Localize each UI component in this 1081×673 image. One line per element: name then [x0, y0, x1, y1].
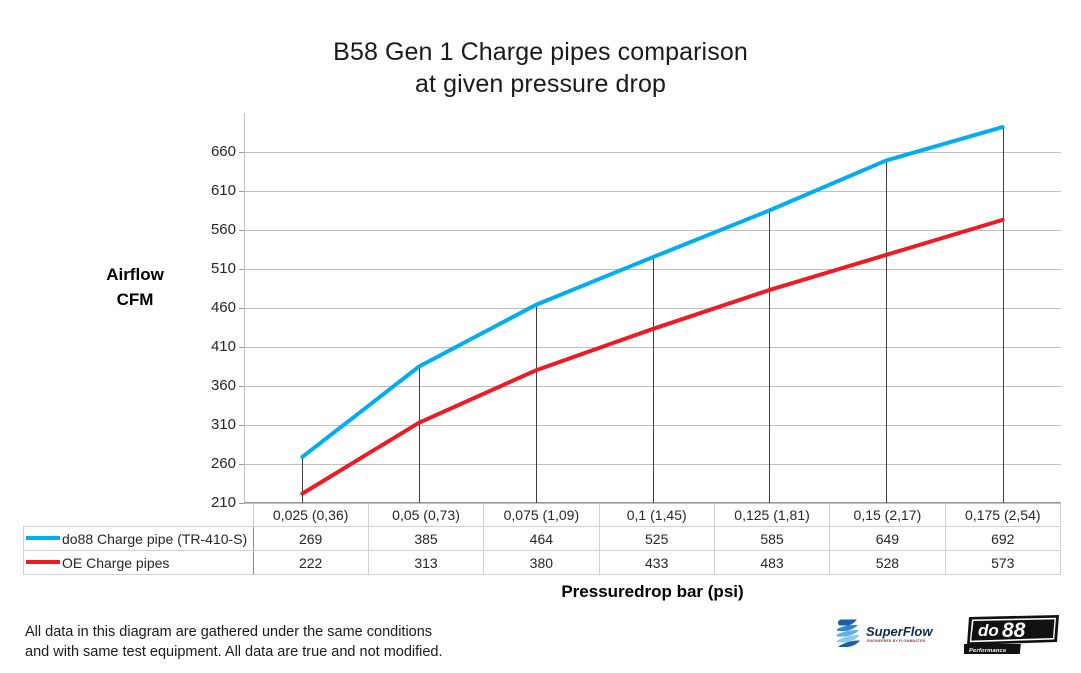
page-title: B58 Gen 1 Charge pipes comparison at giv…: [0, 36, 1081, 100]
series-line: [302, 220, 1002, 494]
x-axis-category-label: 0,025 (0,36): [253, 503, 368, 527]
series-line: [302, 127, 1002, 457]
x-axis-category-label: 0,075 (1,09): [484, 503, 599, 527]
legend-entry[interactable]: OE Charge pipes: [24, 551, 254, 575]
legend-color-swatch: [26, 536, 60, 540]
legend-label: do88 Charge pipe (TR-410-S): [62, 531, 247, 547]
table-cell-value: 380: [484, 551, 599, 575]
page-title-line1: B58 Gen 1 Charge pipes comparison: [333, 38, 748, 66]
y-axis-tick-label: 560: [190, 221, 236, 238]
table-cell-value: 649: [830, 527, 945, 551]
table-row: OE Charge pipes222313380433483528573: [24, 551, 1061, 575]
table-row: do88 Charge pipe (TR-410-S)2693854645255…: [24, 527, 1061, 551]
x-axis-category-label: 0,175 (2,54): [945, 503, 1060, 527]
table-cell-value: 385: [368, 527, 483, 551]
superflow-logo: SuperFlow ENGINEERED BY FLOWMASTER: [836, 618, 939, 650]
y-axis-tick-label: 510: [190, 260, 236, 277]
table-cell-value: 464: [484, 527, 599, 551]
legend-label: OE Charge pipes: [62, 555, 169, 571]
do88-wordmark: do: [978, 621, 999, 640]
y-axis-tick-label: 460: [190, 299, 236, 316]
table-cell-value: 483: [714, 551, 829, 575]
table-cell-value: 313: [368, 551, 483, 575]
data-table: 0,025 (0,36)0,05 (0,73)0,075 (1,09)0,1 (…: [23, 503, 1061, 575]
legend-color-swatch: [26, 560, 60, 564]
chart-plot-area: [244, 113, 1061, 503]
table-cell-value: 269: [253, 527, 368, 551]
y-axis-tick-label: 660: [190, 143, 236, 160]
do88-logo: do 88 Performance: [964, 614, 1061, 656]
x-axis-category-label: 0,1 (1,45): [599, 503, 714, 527]
y-axis-tick-label: 310: [190, 416, 236, 433]
table-cell-value: 528: [830, 551, 945, 575]
page-title-line2: at given pressure drop: [0, 68, 1081, 100]
x-axis-category-label: 0,15 (2,17): [830, 503, 945, 527]
table-cell-value: 525: [599, 527, 714, 551]
table-cell-value: 585: [714, 527, 829, 551]
x-axis-category-label: 0,05 (0,73): [368, 503, 483, 527]
footnote-line1: All data in this diagram are gathered un…: [25, 622, 443, 642]
x-axis-title: Pressuredrop bar (psi): [244, 582, 1061, 602]
y-axis-tick-label: 610: [190, 182, 236, 199]
logo-group: SuperFlow ENGINEERED BY FLOWMASTER do 88…: [836, 614, 1061, 660]
y-axis-tick-label: 260: [190, 455, 236, 472]
table-cell-value: 433: [599, 551, 714, 575]
table-cell-value: 692: [945, 527, 1060, 551]
superflow-wordmark: SuperFlow: [866, 624, 933, 639]
table-corner-cell: [24, 503, 254, 527]
series-lines: [244, 113, 1061, 503]
table-row-categories: 0,025 (0,36)0,05 (0,73)0,075 (1,09)0,1 (…: [24, 503, 1061, 527]
superflow-tagline: ENGINEERED BY FLOWMASTER: [867, 639, 926, 643]
footnote-line2: and with same test equipment. All data a…: [25, 642, 443, 662]
y-axis-tick-label: 410: [190, 338, 236, 355]
y-axis-tick-label: 360: [190, 377, 236, 394]
do88-number: 88: [1002, 619, 1026, 642]
table-cell-value: 573: [945, 551, 1060, 575]
table-cell-value: 222: [253, 551, 368, 575]
legend-entry[interactable]: do88 Charge pipe (TR-410-S): [24, 527, 254, 551]
do88-subtitle: Performance: [969, 648, 1007, 654]
superflow-swoosh-icon: [837, 620, 860, 648]
x-axis-category-label: 0,125 (1,81): [714, 503, 829, 527]
footnote: All data in this diagram are gathered un…: [25, 622, 443, 662]
